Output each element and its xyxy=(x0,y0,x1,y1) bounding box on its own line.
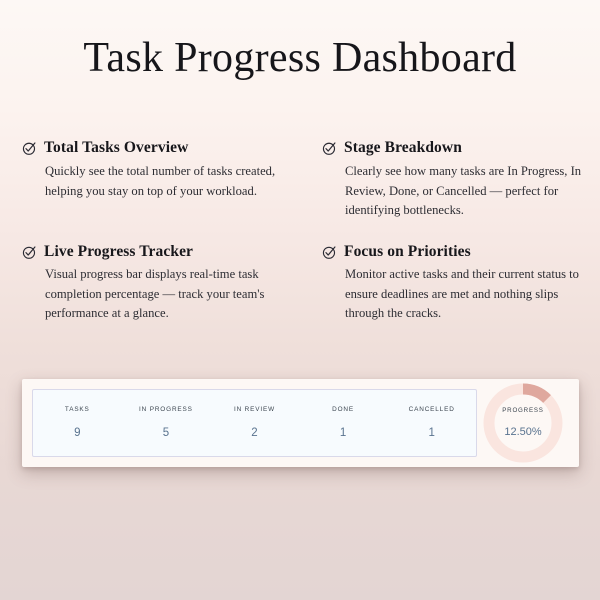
feature-item: Focus on Priorities Monitor active tasks… xyxy=(322,243,600,324)
stat-value: 1 xyxy=(387,428,476,440)
stat-label: TASKS xyxy=(33,407,122,413)
feature-description: Monitor active tasks and their current s… xyxy=(345,265,585,324)
stat-value: 1 xyxy=(299,428,388,440)
stat-label: IN REVIEW xyxy=(210,407,299,413)
feature-title: Total Tasks Overview xyxy=(44,139,188,157)
check-circle-icon xyxy=(322,141,337,156)
features-grid: Total Tasks Overview Quickly see the tot… xyxy=(0,81,600,324)
feature-item: Stage Breakdown Clearly see how many tas… xyxy=(322,139,600,220)
stat-column-cancelled: CANCELLED 1 xyxy=(387,407,476,440)
feature-item: Live Progress Tracker Visual progress ba… xyxy=(22,243,312,324)
feature-title: Focus on Priorities xyxy=(344,243,471,261)
stat-label: CANCELLED xyxy=(387,407,476,413)
feature-item: Total Tasks Overview Quickly see the tot… xyxy=(22,139,312,220)
stat-column-tasks: TASKS 9 xyxy=(33,407,122,440)
stat-column-in-progress: IN PROGRESS 5 xyxy=(122,407,211,440)
stat-label: IN PROGRESS xyxy=(122,407,211,413)
progress-label: PROGRESS xyxy=(502,408,543,414)
stats-panel: TASKS 9 IN PROGRESS 5 IN REVIEW 2 DONE 1… xyxy=(32,389,477,457)
feature-title: Stage Breakdown xyxy=(344,139,462,157)
feature-header: Focus on Priorities xyxy=(322,243,600,261)
progress-text: PROGRESS 12.50% xyxy=(502,408,543,437)
stat-label: DONE xyxy=(299,407,388,413)
check-circle-icon xyxy=(22,141,37,156)
feature-description: Visual progress bar displays real-time t… xyxy=(45,265,295,324)
stat-value: 5 xyxy=(122,428,211,440)
progress-section: PROGRESS 12.50% xyxy=(477,389,569,457)
stat-value: 9 xyxy=(33,428,122,440)
stat-column-in-review: IN REVIEW 2 xyxy=(210,407,299,440)
dashboard-card: TASKS 9 IN PROGRESS 5 IN REVIEW 2 DONE 1… xyxy=(22,379,579,467)
progress-value: 12.50% xyxy=(502,427,543,438)
feature-title: Live Progress Tracker xyxy=(44,243,193,261)
feature-header: Live Progress Tracker xyxy=(22,243,312,261)
feature-description: Clearly see how many tasks are In Progre… xyxy=(345,162,585,221)
feature-header: Stage Breakdown xyxy=(322,139,600,157)
progress-donut: PROGRESS 12.50% xyxy=(481,381,565,465)
feature-header: Total Tasks Overview xyxy=(22,139,312,157)
feature-description: Quickly see the total number of tasks cr… xyxy=(45,162,295,201)
stat-value: 2 xyxy=(210,428,299,440)
stat-column-done: DONE 1 xyxy=(299,407,388,440)
check-circle-icon xyxy=(322,245,337,260)
check-circle-icon xyxy=(22,245,37,260)
page-title: Task Progress Dashboard xyxy=(0,0,600,81)
